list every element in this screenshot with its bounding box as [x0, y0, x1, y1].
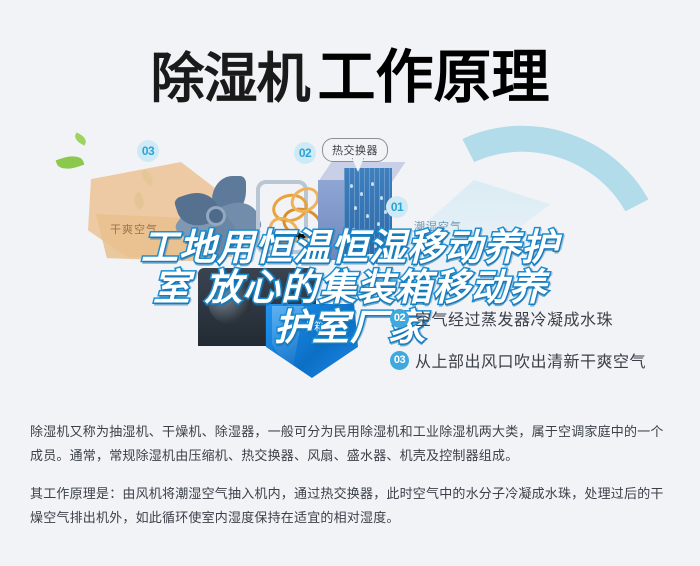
- diagram-badge-03: 03: [137, 140, 159, 162]
- title-part-one: 除湿机: [150, 47, 309, 110]
- dehumidifier-intake: [208, 280, 252, 324]
- page-title: 除湿机工作原理: [0, 30, 700, 114]
- caption-text-03: 从上部出风口吹出清新干爽空气: [415, 348, 646, 372]
- leaf-icon: [73, 132, 88, 145]
- caption-badge-02: 02: [390, 309, 409, 328]
- diagram-badge-01: 01: [386, 196, 408, 218]
- humid-air-label: 潮湿空气: [414, 218, 462, 234]
- step-captions: 02 空气经过蒸发器冷凝成水珠 03 从上部出风口吹出清新干爽空气: [390, 306, 690, 390]
- body-paragraph-1: 除湿机又称为抽湿机、干燥机、除湿器，一般可分为民用除湿机和工业除湿机两大类，属于…: [30, 420, 675, 468]
- dry-air-label: 干爽空气: [110, 221, 158, 237]
- infographic-page: 除湿机工作原理 干爽空气 潮湿空气: [0, 0, 700, 566]
- flow-arrow-icon: [282, 234, 304, 237]
- fan-icon: [178, 170, 264, 256]
- body-copy: 除湿机又称为抽湿机、干燥机、除湿器，一般可分为民用除湿机和工业除湿机两大类，属于…: [30, 420, 675, 530]
- caption-text-02: 空气经过蒸发器冷凝成水珠: [415, 306, 613, 330]
- title-part-two: 工作原理: [317, 43, 549, 111]
- body-paragraph-2: 其工作原理是：由风机将潮湿空气抽入机内，通过热交换器，此时空气中的水分子冷凝成水…: [30, 482, 675, 530]
- leaf-icon: [56, 152, 85, 172]
- fan-hub: [206, 206, 226, 226]
- diagram-badge-02: 02: [294, 142, 316, 164]
- condensation-drops: [346, 178, 390, 252]
- caption-row-03: 03 从上部出风口吹出清新干爽空气: [390, 348, 690, 372]
- water-tank-label: 水箱: [302, 318, 326, 334]
- heat-exchanger-front: [318, 180, 344, 260]
- caption-row-02: 02 空气经过蒸发器冷凝成水珠: [390, 306, 690, 330]
- caption-badge-03: 03: [390, 351, 409, 370]
